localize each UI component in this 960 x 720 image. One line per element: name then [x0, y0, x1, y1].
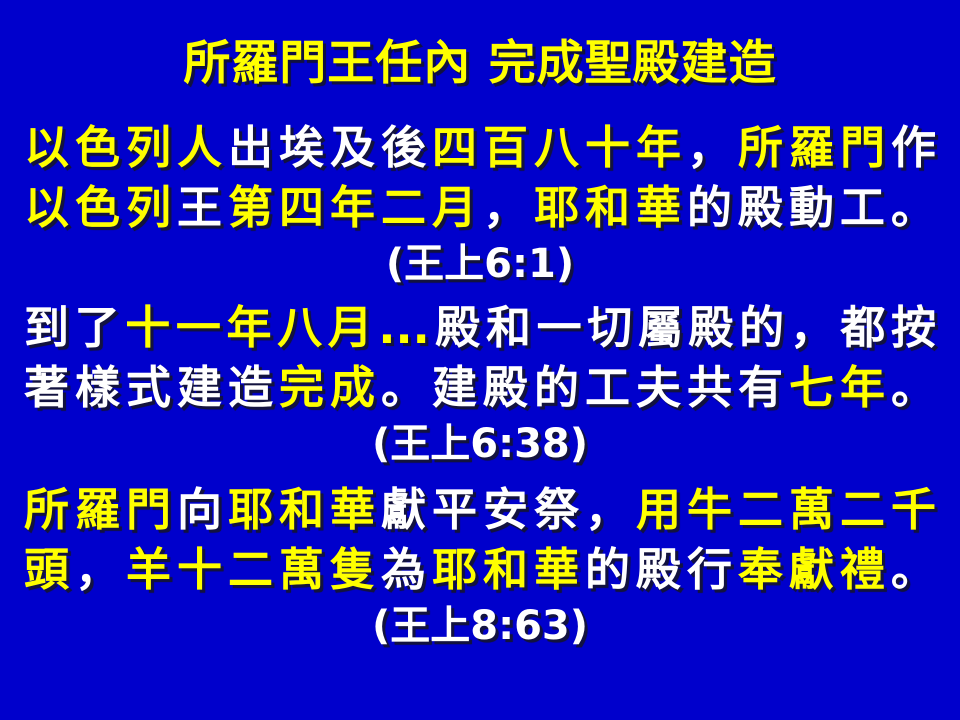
verse-block-1: 以色列人出埃及後四百八十年，所羅門作以色列王第四年二月，耶和華的殿動工。(王上6…	[0, 118, 960, 290]
verse-line: 著樣式建造完成。建殿的工夫共有七年。	[0, 358, 960, 418]
verse-text-segment: 的殿動工。	[687, 181, 936, 234]
verse-text-segment: 向	[177, 483, 228, 536]
verse-line: 所羅門向耶和華獻平安祭，用牛二萬二千	[0, 480, 960, 540]
verse-text-segment: 到了	[24, 301, 125, 354]
verse-text-segment: 七年	[789, 361, 891, 414]
verse-text-segment: 所羅門	[24, 483, 177, 536]
verse-line: 以色列人出埃及後四百八十年，所羅門作	[0, 118, 960, 178]
verse-text-segment: 為	[381, 543, 432, 596]
slide-title: 所羅門王任內 完成聖殿建造	[0, 38, 960, 91]
verse-text-segment: 耶和華	[534, 181, 687, 234]
verse-text-segment: 羊十二萬隻	[126, 543, 381, 596]
verse-text-segment: 所羅門	[738, 121, 891, 174]
verse-text-segment: ，	[687, 121, 738, 174]
verse-text-segment: ，	[75, 543, 126, 596]
verse-text-segment: 頭	[24, 543, 75, 596]
verse-text-segment: 殿和一切屬殿的，都按	[430, 301, 936, 354]
verse-text-segment: 出埃及後	[228, 121, 432, 174]
verse-text-segment: 獻平安祭，	[381, 483, 636, 536]
verse-text-segment: 耶和華	[432, 543, 585, 596]
verse-text-segment: 著樣式建造	[24, 361, 279, 414]
verse-text-segment: 第四年二月	[228, 181, 483, 234]
verse-block-2: 到了十一年八月...殿和一切屬殿的，都按著樣式建造完成。建殿的工夫共有七年。(王…	[0, 298, 960, 470]
verse-text-segment: 奉獻禮	[738, 543, 891, 596]
verse-text-segment: 四百八十年	[432, 121, 687, 174]
verse-text-segment: 以色列	[24, 181, 177, 234]
verse-text-segment: 。建殿的工夫共有	[381, 361, 789, 414]
scripture-reference: (王上6:38)	[0, 418, 960, 470]
verse-text-segment: 以色列人	[24, 121, 228, 174]
verse-text-segment: 作	[891, 121, 936, 174]
verse-text-segment: 完成	[279, 361, 381, 414]
verse-text-segment: 十一年八月...	[125, 301, 429, 354]
verse-line: 到了十一年八月...殿和一切屬殿的，都按	[0, 298, 960, 358]
verse-block-3: 所羅門向耶和華獻平安祭，用牛二萬二千頭，羊十二萬隻為耶和華的殿行奉獻禮。(王上8…	[0, 480, 960, 652]
scripture-reference: (王上6:1)	[0, 238, 960, 290]
presentation-slide: 所羅門王任內 完成聖殿建造 以色列人出埃及後四百八十年，所羅門作以色列王第四年二…	[0, 0, 960, 720]
verse-text-segment: 用牛二萬二千	[636, 483, 936, 536]
verse-text-segment: 耶和華	[228, 483, 381, 536]
scripture-reference: (王上8:63)	[0, 600, 960, 652]
verse-line: 頭，羊十二萬隻為耶和華的殿行奉獻禮。	[0, 540, 960, 600]
verse-line: 以色列王第四年二月，耶和華的殿動工。	[0, 178, 960, 238]
verse-text-segment: 。	[891, 361, 936, 414]
verse-text-segment: 。	[891, 543, 936, 596]
verse-text-segment: 王	[177, 181, 228, 234]
verse-text-segment: ，	[483, 181, 534, 234]
verse-text-segment: 的殿行	[585, 543, 738, 596]
